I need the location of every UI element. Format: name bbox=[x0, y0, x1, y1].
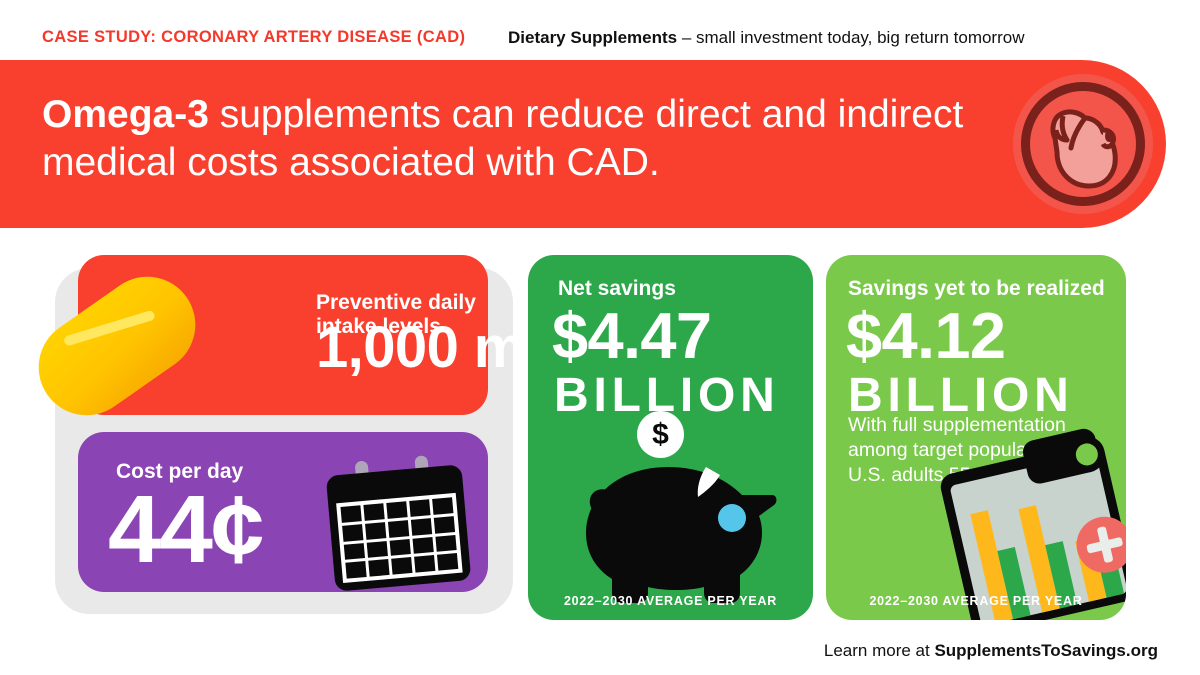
intake-value: 1,000 mg bbox=[316, 317, 560, 379]
unrealized-footnote: 2022–2030 AVERAGE PER YEAR bbox=[826, 594, 1126, 608]
capsule-body bbox=[20, 258, 214, 434]
cost-value: 44¢ bbox=[108, 480, 262, 580]
capsule-gloss bbox=[63, 310, 156, 347]
unrealized-amount: $4.12 bbox=[846, 301, 1005, 371]
calendar-grid bbox=[336, 493, 463, 583]
calendar-icon bbox=[325, 452, 472, 591]
kicker-rest: – small investment today, big return tom… bbox=[677, 28, 1024, 47]
net-savings-amount: $4.47 bbox=[552, 301, 711, 371]
learn-more-line: Learn more at SupplementsToSavings.org bbox=[824, 641, 1158, 661]
omega3-capsule-icon bbox=[20, 258, 200, 438]
banner-headline-bold: Omega-3 bbox=[42, 93, 209, 136]
learn-more-site[interactable]: SupplementsToSavings.org bbox=[934, 641, 1158, 660]
card-net-savings: Net savings $4.47 BILLION $ 2022–2030 AV… bbox=[528, 255, 813, 620]
card-cost-per-day: Cost per day 44¢ bbox=[78, 432, 488, 592]
medical-cross-icon bbox=[1071, 511, 1126, 578]
unrealized-label: Savings yet to be realized bbox=[848, 277, 1105, 301]
anatomical-heart-icon bbox=[1041, 100, 1125, 190]
kicker-line: Dietary Supplements – small investment t… bbox=[508, 28, 1025, 48]
learn-more-prefix: Learn more at bbox=[824, 641, 935, 660]
piggy-bank-icon bbox=[556, 433, 784, 605]
card-unrealized-savings: Savings yet to be realized $4.12 BILLION… bbox=[826, 255, 1126, 620]
infographic-canvas: CASE STUDY: CORONARY ARTERY DISEASE (CAD… bbox=[0, 0, 1200, 675]
kicker-bold: Dietary Supplements bbox=[508, 28, 677, 47]
net-savings-label: Net savings bbox=[558, 277, 676, 301]
case-study-eyebrow: CASE STUDY: CORONARY ARTERY DISEASE (CAD… bbox=[42, 28, 465, 47]
banner-headline: Omega-3 supplements can reduce direct an… bbox=[42, 91, 972, 187]
net-savings-footnote: 2022–2030 AVERAGE PER YEAR bbox=[528, 594, 813, 608]
